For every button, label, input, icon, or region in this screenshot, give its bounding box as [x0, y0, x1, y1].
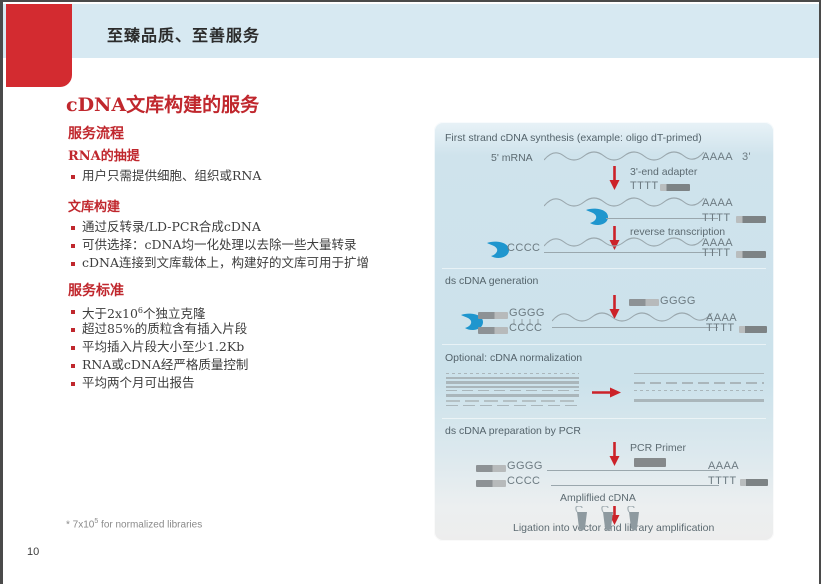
page-number: 10: [27, 546, 39, 558]
label-polya-pcr: AAAA: [708, 460, 739, 472]
adapter-block-1: [660, 184, 690, 191]
list-item: 通过反转录/LD-PCR合成cDNA: [71, 220, 261, 234]
list-item: 平均两个月可出报告: [71, 376, 195, 390]
mrna-strand-wave-2: [544, 194, 709, 210]
subsection-heading-rna-extraction: RNA的抽提: [68, 145, 140, 164]
list-item: 平均插入片段大小至少1.2Kb: [71, 340, 244, 354]
mrna-strand-wave-1: [544, 148, 709, 164]
list-item-label: 平均插入片段大小至少1.2Kb: [82, 340, 244, 354]
bullet-marker-icon: [71, 244, 75, 248]
bullet-marker-icon: [71, 262, 75, 266]
adapter-block-8: [476, 465, 506, 472]
adapter-block-3: [736, 251, 766, 258]
label-3prime: 3': [742, 151, 751, 163]
adapter-block-5: [478, 312, 508, 319]
bullet-marker-icon: [71, 328, 75, 332]
label-tttt-pcr: TTTT: [708, 475, 736, 487]
mrna-strand-wave-4: [552, 309, 717, 325]
list-item: 用户只需提供细胞、组织或RNA: [71, 169, 261, 183]
label-5p-mrna: 5' mRNA: [491, 152, 533, 164]
list-item: RNA或cDNA经严格质量控制: [71, 358, 248, 372]
label-cccc-1: CCCC: [507, 242, 540, 254]
diagram-stage-title-pcr-prep: ds cDNA preparation by PCR: [445, 425, 581, 437]
adapter-block-10: [740, 479, 768, 486]
diagram-stage-title-ds-generation: ds cDNA generation: [445, 275, 538, 287]
list-item-label: RNA或cDNA经严格质量控制: [82, 358, 248, 372]
adapter-block-6: [478, 327, 508, 334]
list-item-label: cDNA连接到文库载体上，构建好的文库可用于扩增: [82, 256, 369, 270]
label-cccc-left: CCCC: [509, 322, 542, 334]
bullet-marker-icon: [71, 310, 75, 314]
section-heading-standards: 服务标准: [68, 280, 124, 300]
label-polya-1: AAAA: [702, 151, 733, 163]
label-tttt-2: TTTT: [702, 247, 730, 259]
bullet-marker-icon: [71, 175, 75, 179]
slide-canvas: 至臻品质、至善服务 cDNA文库构建的服务 服务流程 RNA的抽提 用户只需提供…: [0, 0, 821, 584]
list-item-label: 大于2x106个独立克隆: [82, 304, 206, 321]
label-cccc-pcr: CCCC: [507, 475, 540, 487]
bullet-marker-icon: [71, 346, 75, 350]
list-item-label: 平均两个月可出报告: [82, 376, 195, 390]
bullet-marker-icon: [71, 364, 75, 368]
label-gggg-left: GGGG: [509, 307, 545, 319]
cdna-strand-line-4: [547, 470, 719, 471]
stage-divider-2: [442, 344, 766, 345]
bullet-marker-icon: [71, 382, 75, 386]
footnote: * 7x105 for normalized libraries: [66, 518, 202, 530]
list-item: 可供选择：cDNA均一化处理以去除一些大量转录: [71, 238, 357, 252]
pcr-primer-block: [634, 458, 666, 467]
header-title: 至臻品质、至善服务: [107, 22, 260, 46]
list-item-label: 超过85%的质粒含有插入片段: [82, 322, 247, 336]
label-3end-adapter: 3'-end adapter: [630, 166, 697, 178]
list-item: cDNA连接到文库载体上，构建好的文库可用于扩增: [71, 256, 369, 270]
adapter-block-2: [736, 216, 766, 223]
list-item: 大于2x106个独立克隆: [71, 304, 206, 321]
arrow-down-icon-4: [609, 442, 620, 467]
label-tttt-3: TTTT: [706, 322, 734, 334]
adapter-block-4: [629, 299, 659, 306]
brand-red-block: [6, 4, 72, 87]
arrow-right-icon-normalization: [592, 386, 622, 399]
adapter-block-7: [739, 326, 767, 333]
label-gggg-pcr: GGGG: [507, 460, 543, 472]
microcentrifuge-tubes-icon: [573, 506, 648, 541]
label-tttt-1: TTTT: [702, 212, 730, 224]
cdna-strand-line-3: [552, 327, 718, 328]
stage-divider-1: [442, 268, 766, 269]
cdna-strand-line-2: [544, 252, 718, 253]
label-pcr-primer: PCR Primer: [630, 442, 686, 454]
page-title: cDNA文库构建的服务: [66, 90, 259, 117]
cdna-strand-line-5: [551, 485, 719, 486]
diagram-stage-title-first-strand: First strand cDNA synthesis (example: ol…: [445, 132, 702, 144]
section-heading-process: 服务流程: [68, 123, 124, 143]
mrna-strand-wave-3: [544, 234, 709, 250]
workflow-diagram-panel: First strand cDNA synthesis (example: ol…: [434, 122, 774, 541]
subsection-heading-library-construction: 文库构建: [68, 196, 120, 215]
arrow-down-icon-1: [609, 166, 620, 191]
reverse-transcriptase-enzyme-icon-1: [584, 207, 610, 227]
list-item-label: 用户只需提供细胞、组织或RNA: [82, 169, 261, 183]
diagram-stage-title-normalization: Optional: cDNA normalization: [445, 352, 582, 364]
label-tttt-adapter: TTTT: [630, 180, 658, 192]
label-polya-2: AAAA: [702, 197, 733, 209]
label-gggg-top: GGGG: [660, 295, 696, 307]
list-item-label: 可供选择：cDNA均一化处理以去除一些大量转录: [82, 238, 357, 252]
bullet-marker-icon: [71, 226, 75, 230]
label-amplified-cdna: Ampliflied cDNA: [560, 492, 636, 504]
list-item-label: 通过反转录/LD-PCR合成cDNA: [82, 220, 261, 234]
adapter-block-9: [476, 480, 506, 487]
list-item: 超过85%的质粒含有插入片段: [71, 322, 247, 336]
stage-divider-3: [442, 418, 766, 419]
